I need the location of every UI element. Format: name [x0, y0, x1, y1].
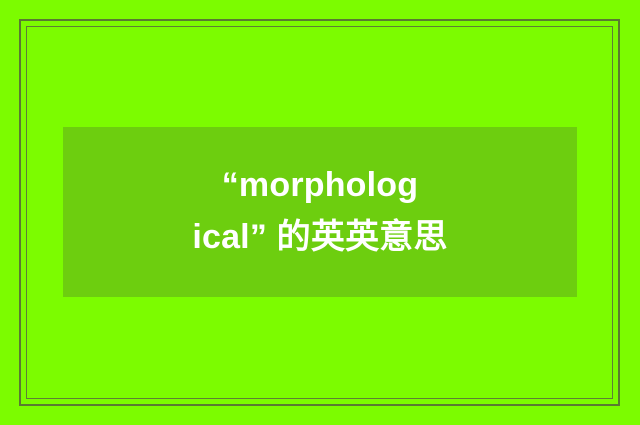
page-canvas: “morpholog ical” 的英英意思: [0, 0, 640, 425]
headline-text: “morpholog ical” 的英英意思: [186, 160, 453, 263]
headline-panel: “morpholog ical” 的英英意思: [63, 127, 577, 297]
